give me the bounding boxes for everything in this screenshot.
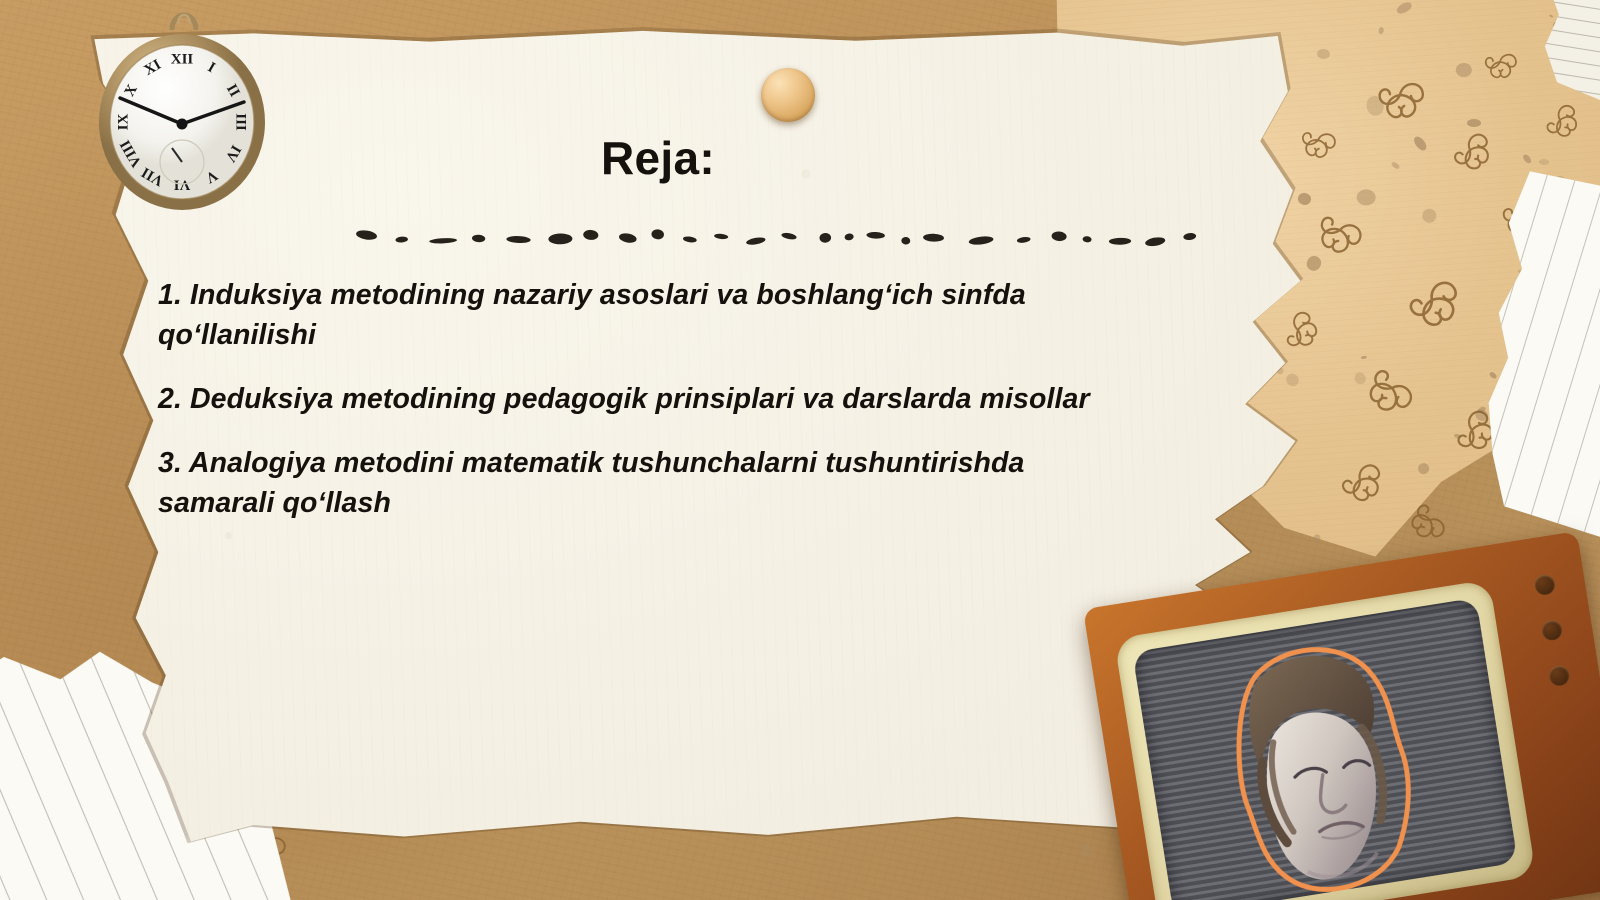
- tv-knob[interactable]: [1533, 573, 1556, 596]
- list-item: 3. Analogiya metodini matematik tushunch…: [158, 444, 1118, 524]
- svg-text:III: III: [233, 113, 249, 131]
- tv-knob[interactable]: [1548, 664, 1571, 687]
- svg-text:XII: XII: [171, 51, 194, 67]
- slide-canvas: Reja: 1. Induksiya metodining nazariy as…: [0, 0, 1600, 900]
- svg-text:IX: IX: [115, 113, 131, 130]
- agenda-list: 1. Induksiya metodining nazariy asoslari…: [158, 276, 1118, 547]
- clock-icon: XIIIIIIIIIVVVIVIIVIIIIXXXI: [92, 2, 270, 220]
- list-item: 2. Deduksiya metodining pedagogik prinsi…: [158, 380, 1118, 420]
- dashed-divider: [348, 216, 1218, 262]
- tv-screen: [1132, 598, 1518, 900]
- list-item: 1. Induksiya metodining nazariy asoslari…: [158, 276, 1118, 356]
- tv-knob[interactable]: [1541, 619, 1564, 642]
- push-pin-icon: [761, 68, 815, 122]
- marble-bust-icon: [1132, 598, 1518, 900]
